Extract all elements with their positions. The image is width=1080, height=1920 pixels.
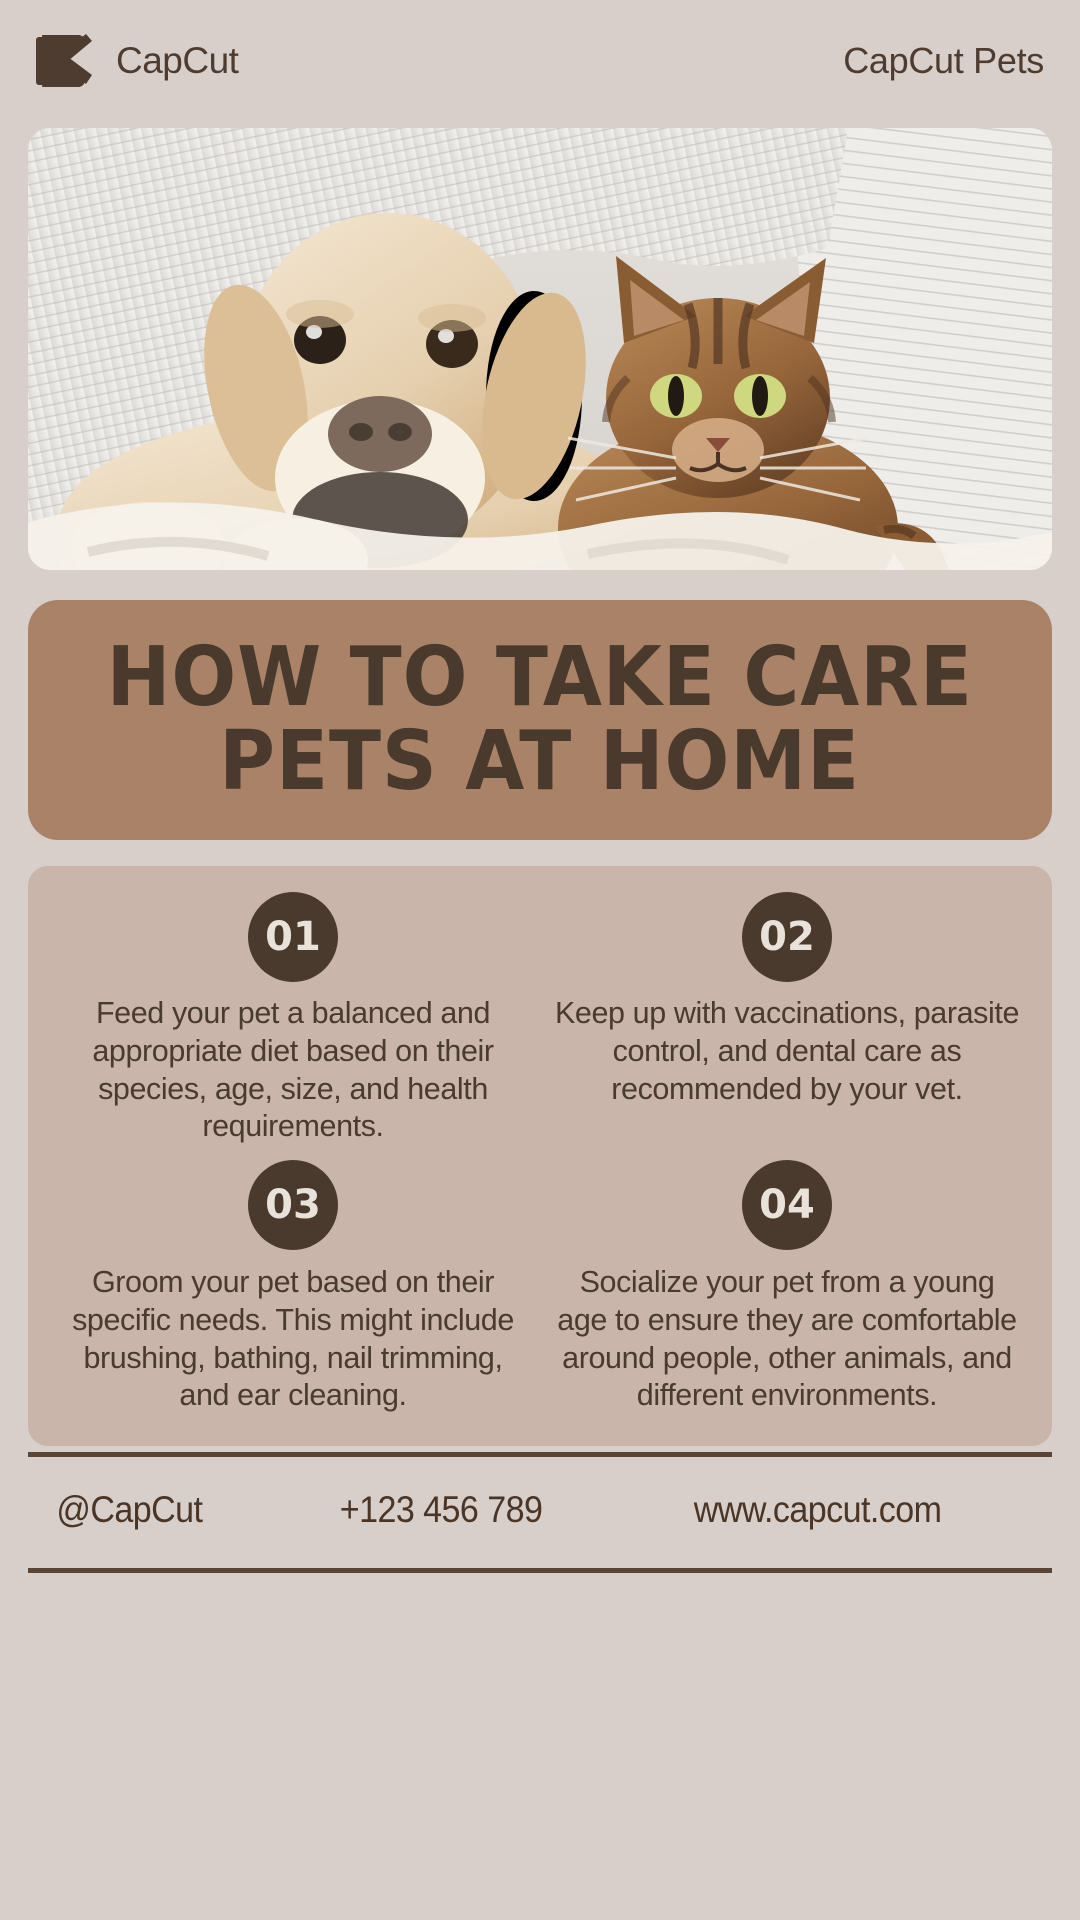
tips-card: 01 Feed your pet a balanced and appropri…	[28, 866, 1052, 1446]
footer-social-handle[interactable]: @CapCut	[56, 1489, 202, 1531]
tips-grid: 01 Feed your pet a balanced and appropri…	[46, 892, 1034, 1428]
tip-text: Feed your pet a balanced and appropriate…	[60, 995, 526, 1146]
tip-item-04: 04 Socialize your pet from a young age t…	[540, 1160, 1034, 1428]
title-banner: HOW TO TAKE CARE PETS AT HOME	[28, 600, 1052, 840]
footer-rule-bottom	[28, 1568, 1052, 1573]
tip-item-02: 02 Keep up with vaccinations, parasite c…	[540, 892, 1034, 1160]
header: CapCut CapCut Pets	[0, 0, 1080, 122]
tip-number: 01	[265, 917, 321, 957]
title-line-2: PETS AT HOME	[220, 720, 861, 804]
header-right-label: CapCut Pets	[843, 40, 1044, 82]
tip-number-badge: 02	[742, 892, 832, 982]
tip-text: Socialize your pet from a young age to e…	[554, 1264, 1020, 1415]
brand-name: CapCut	[116, 40, 238, 82]
capcut-bowtie-icon	[36, 31, 98, 91]
tip-number: 02	[759, 917, 815, 957]
brand-lockup[interactable]: CapCut	[36, 31, 238, 91]
footer: @CapCut +123 456 789 www.capcut.com	[28, 1452, 1052, 1568]
infographic-page: CapCut CapCut Pets	[0, 0, 1080, 1920]
title-line-1: HOW TO TAKE CARE	[107, 636, 973, 720]
tip-item-03: 03 Groom your pet based on their specifi…	[46, 1160, 540, 1428]
tip-item-01: 01 Feed your pet a balanced and appropri…	[46, 892, 540, 1160]
tip-number-badge: 03	[248, 1160, 338, 1250]
tip-number-badge: 04	[742, 1160, 832, 1250]
footer-website[interactable]: www.capcut.com	[694, 1489, 942, 1531]
tip-text: Groom your pet based on their specific n…	[60, 1264, 526, 1415]
tip-number: 04	[759, 1185, 815, 1225]
tip-number-badge: 01	[248, 892, 338, 982]
hero-photo	[28, 128, 1052, 570]
footer-phone[interactable]: +123 456 789	[340, 1489, 543, 1531]
tip-number: 03	[265, 1185, 321, 1225]
tip-text: Keep up with vaccinations, parasite cont…	[554, 995, 1020, 1108]
